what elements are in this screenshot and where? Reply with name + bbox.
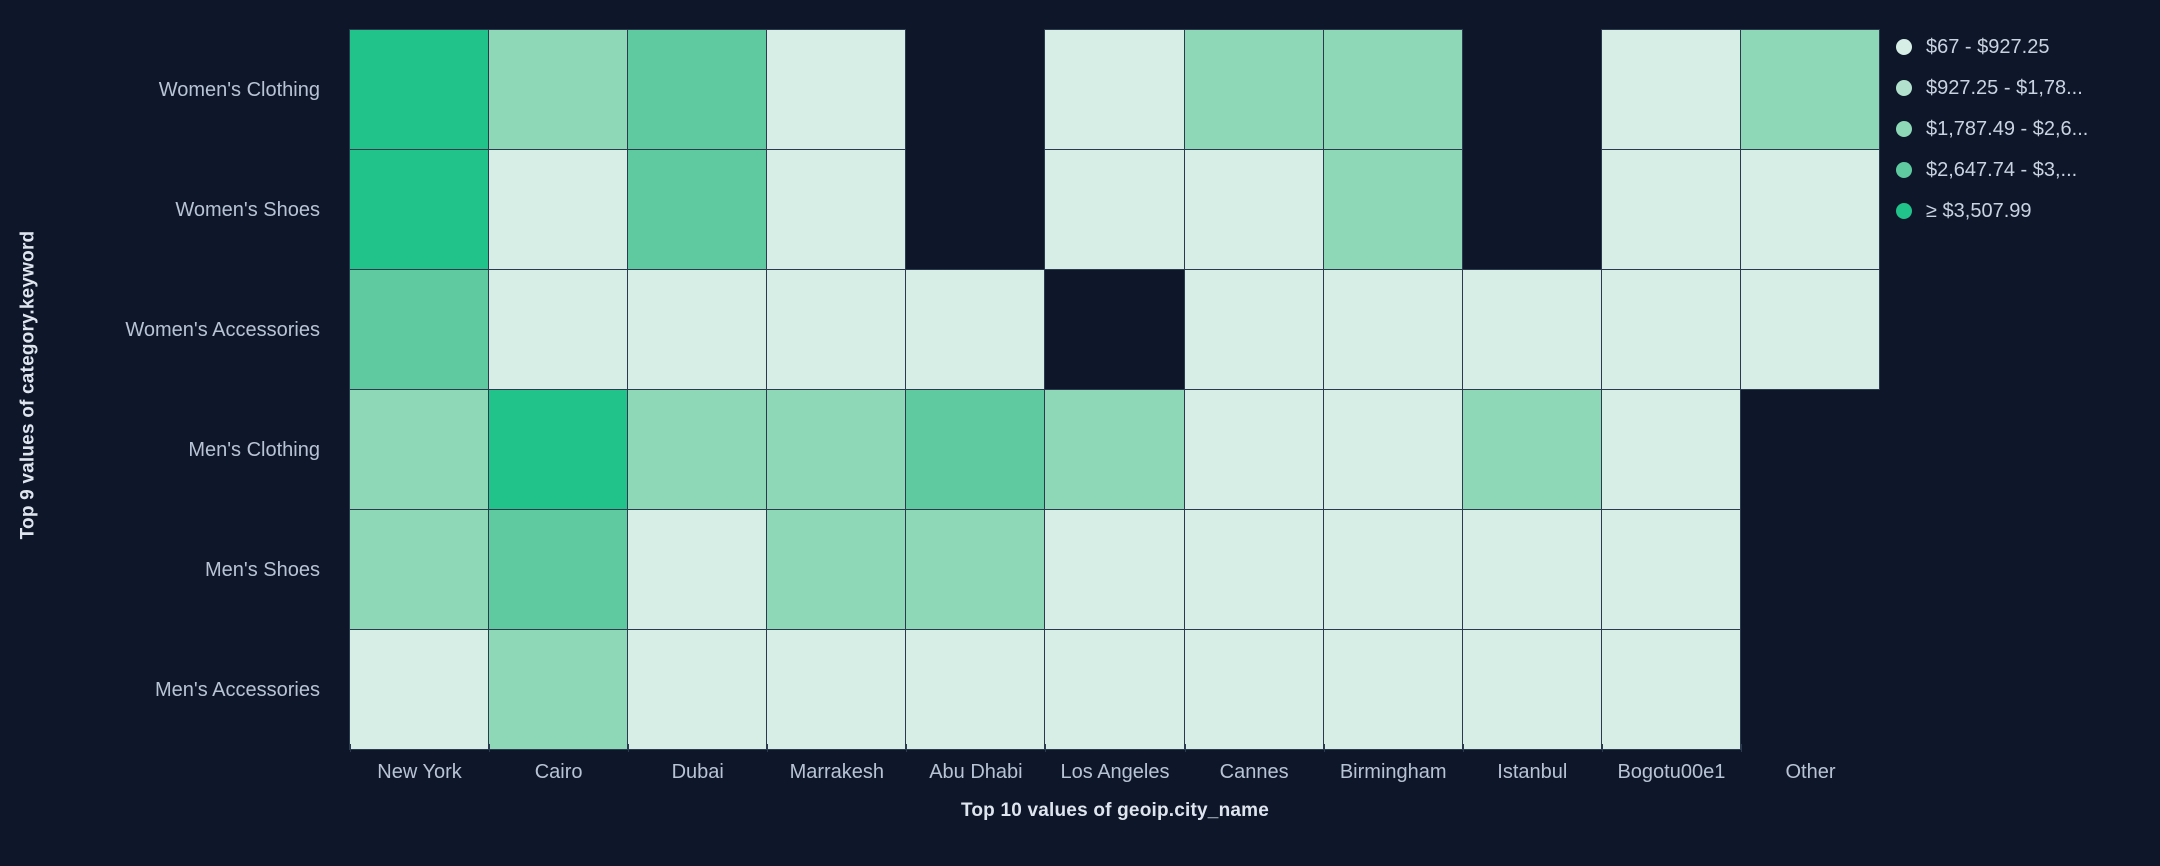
heatmap-cell[interactable]	[1044, 509, 1184, 630]
legend-swatch-icon	[1896, 203, 1912, 219]
x-axis-tick-label: New York	[350, 752, 489, 792]
heatmap-cell[interactable]	[1184, 269, 1324, 390]
heatmap-cell[interactable]	[488, 269, 628, 390]
heatmap-cell[interactable]	[488, 389, 628, 510]
legend-item[interactable]: $2,647.74 - $3,...	[1896, 159, 2146, 181]
heatmap-cell[interactable]	[1044, 629, 1184, 750]
heatmap-row	[350, 30, 1880, 150]
heatmap-cell[interactable]	[1184, 29, 1324, 150]
heatmap-cell[interactable]	[1184, 389, 1324, 510]
heatmap-cell-empty	[905, 29, 1045, 150]
heatmap-cell[interactable]	[627, 389, 767, 510]
heatmap-cell[interactable]	[1601, 29, 1741, 150]
heatmap-cell[interactable]	[1323, 389, 1463, 510]
heatmap-cell[interactable]	[349, 509, 489, 630]
heatmap-cell[interactable]	[1044, 389, 1184, 510]
heatmap-cell[interactable]	[488, 509, 628, 630]
legend-item[interactable]: $67 - $927.25	[1896, 36, 2146, 58]
x-axis-tick-label: Other	[1741, 752, 1880, 792]
heatmap-cell[interactable]	[488, 149, 628, 270]
y-axis-tick-labels: Women's ClothingWomen's ShoesWomen's Acc…	[40, 30, 334, 750]
heatmap-cell[interactable]	[349, 269, 489, 390]
heatmap-cell[interactable]	[488, 29, 628, 150]
heatmap-cell-empty	[1044, 269, 1184, 390]
heatmap-row	[350, 510, 1880, 630]
heatmap-cell[interactable]	[1323, 509, 1463, 630]
heatmap-cell[interactable]	[1323, 629, 1463, 750]
heatmap-row	[350, 270, 1880, 390]
heatmap-visualization: Top 9 values of category.keyword Women's…	[0, 0, 2160, 866]
heatmap-cell-empty	[1740, 389, 1880, 510]
legend-swatch-icon	[1896, 162, 1912, 178]
heatmap-cell-empty	[1462, 29, 1602, 150]
y-axis-tick-label: Men's Clothing	[40, 390, 334, 510]
heatmap-cell[interactable]	[627, 149, 767, 270]
heatmap-cell[interactable]	[766, 29, 906, 150]
x-axis-tick-label: Istanbul	[1463, 752, 1602, 792]
x-axis-tick-label: Abu Dhabi	[906, 752, 1045, 792]
heatmap-cell[interactable]	[905, 389, 1045, 510]
heatmap-cell[interactable]	[349, 389, 489, 510]
heatmap-cell[interactable]	[1601, 149, 1741, 270]
legend-swatch-icon	[1896, 121, 1912, 137]
heatmap-cell[interactable]	[1462, 629, 1602, 750]
x-axis-tick-label: Dubai	[628, 752, 767, 792]
heatmap-cell[interactable]	[627, 629, 767, 750]
heatmap-cell[interactable]	[1740, 29, 1880, 150]
color-legend[interactable]: $67 - $927.25$927.25 - $1,78...$1,787.49…	[1896, 36, 2146, 222]
y-axis-tick-label: Men's Accessories	[40, 630, 334, 750]
heatmap-cell[interactable]	[1184, 629, 1324, 750]
heatmap-cell[interactable]	[627, 509, 767, 630]
heatmap-cell[interactable]	[766, 269, 906, 390]
heatmap-row	[350, 390, 1880, 510]
heatmap-cell[interactable]	[766, 149, 906, 270]
y-axis-tick-label: Women's Clothing	[40, 30, 334, 150]
heatmap-plot-area[interactable]	[350, 30, 1880, 750]
heatmap-cell[interactable]	[1044, 149, 1184, 270]
y-axis-title: Top 9 values of category.keyword	[14, 0, 42, 770]
x-axis-tick-labels: New YorkCairoDubaiMarrakeshAbu DhabiLos …	[350, 752, 1880, 792]
heatmap-cell[interactable]	[1601, 389, 1741, 510]
heatmap-cell-empty	[1740, 509, 1880, 630]
heatmap-cell[interactable]	[1740, 149, 1880, 270]
x-axis-tick-label: Marrakesh	[767, 752, 906, 792]
heatmap-cell[interactable]	[1740, 269, 1880, 390]
heatmap-cell[interactable]	[1323, 269, 1463, 390]
y-axis-title-text: Top 9 values of category.keyword	[17, 231, 39, 540]
x-axis-tick-label: Birmingham	[1324, 752, 1463, 792]
heatmap-cell[interactable]	[488, 629, 628, 750]
y-axis-tick-label: Women's Accessories	[40, 270, 334, 390]
heatmap-cell[interactable]	[349, 29, 489, 150]
legend-item-label: $2,647.74 - $3,...	[1926, 159, 2077, 182]
heatmap-cell-empty	[1740, 629, 1880, 750]
legend-swatch-icon	[1896, 39, 1912, 55]
heatmap-cell[interactable]	[1323, 149, 1463, 270]
heatmap-cell[interactable]	[349, 629, 489, 750]
heatmap-cell[interactable]	[1184, 149, 1324, 270]
heatmap-cell[interactable]	[1601, 269, 1741, 390]
legend-item[interactable]: ≥ $3,507.99	[1896, 200, 2146, 222]
legend-item[interactable]: $1,787.49 - $2,6...	[1896, 118, 2146, 140]
y-axis-tick-label: Women's Shoes	[40, 150, 334, 270]
legend-item-label: $927.25 - $1,78...	[1926, 77, 2083, 100]
heatmap-cell[interactable]	[627, 29, 767, 150]
heatmap-cell[interactable]	[1462, 389, 1602, 510]
heatmap-cell[interactable]	[766, 389, 906, 510]
heatmap-row	[350, 150, 1880, 270]
heatmap-cell[interactable]	[1184, 509, 1324, 630]
heatmap-row	[350, 630, 1880, 750]
legend-swatch-icon	[1896, 80, 1912, 96]
x-axis-tick-label: Bogotu00e1	[1602, 752, 1741, 792]
y-axis-tick-label: Men's Shoes	[40, 510, 334, 630]
heatmap-cell[interactable]	[1601, 629, 1741, 750]
heatmap-cell[interactable]	[905, 629, 1045, 750]
x-axis-title: Top 10 values of geoip.city_name	[350, 800, 1880, 822]
heatmap-cell[interactable]	[1323, 29, 1463, 150]
legend-item[interactable]: $927.25 - $1,78...	[1896, 77, 2146, 99]
heatmap-cell[interactable]	[349, 149, 489, 270]
heatmap-cell-empty	[905, 149, 1045, 270]
heatmap-cell[interactable]	[905, 509, 1045, 630]
heatmap-cell[interactable]	[1601, 509, 1741, 630]
heatmap-cell[interactable]	[905, 269, 1045, 390]
legend-item-label: $1,787.49 - $2,6...	[1926, 118, 2088, 141]
x-axis-tick-label: Cairo	[489, 752, 628, 792]
legend-item-label: ≥ $3,507.99	[1926, 200, 2032, 223]
heatmap-cell[interactable]	[766, 629, 906, 750]
heatmap-cell[interactable]	[1044, 29, 1184, 150]
legend-item-label: $67 - $927.25	[1926, 36, 2049, 59]
heatmap-cell[interactable]	[1462, 269, 1602, 390]
heatmap-cell-empty	[1462, 149, 1602, 270]
x-axis-tick-label: Cannes	[1185, 752, 1324, 792]
x-axis-tick-label: Los Angeles	[1045, 752, 1184, 792]
heatmap-cell[interactable]	[1462, 509, 1602, 630]
heatmap-cell[interactable]	[627, 269, 767, 390]
heatmap-cell[interactable]	[766, 509, 906, 630]
